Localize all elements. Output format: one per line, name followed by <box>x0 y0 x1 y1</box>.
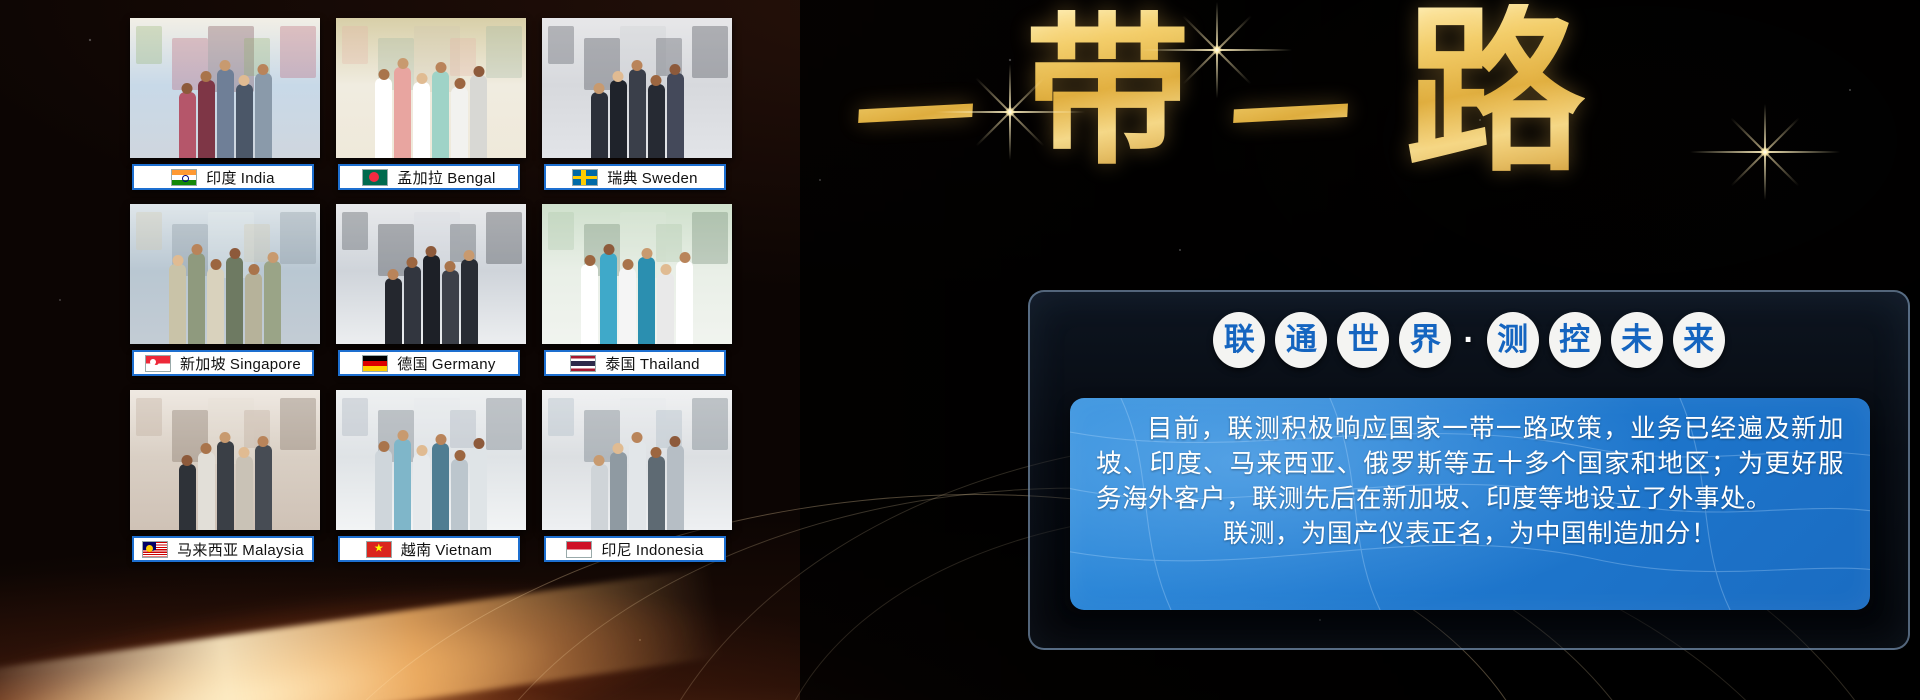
slogan-char: 控 <box>1549 312 1601 368</box>
country-photo[interactable] <box>130 390 320 530</box>
vietnam-flag-icon <box>366 541 392 558</box>
country-name-en: Singapore <box>230 356 301 373</box>
calligraphy-char-4: 路 <box>1405 4 1585 184</box>
country-name-cn: 越南 <box>401 542 432 559</box>
country-name-cn: 印度 <box>206 170 237 187</box>
slogan-separator: · <box>1463 323 1474 357</box>
description-box: 目前，联测积极响应国家一带一路政策，业务已经遍及新加坡、印度、马来西亚、俄罗斯等… <box>1070 398 1870 610</box>
country-name: 德国Germany <box>397 353 495 374</box>
country-label: 印度India <box>132 164 314 190</box>
country-name-en: Germany <box>432 356 496 373</box>
country-name: 越南Vietnam <box>401 539 492 560</box>
malaysia-flag-icon <box>142 541 168 558</box>
calligraphy-char-3: 一 <box>1227 57 1354 183</box>
country-name-en: Thailand <box>640 356 700 373</box>
country-label: 越南Vietnam <box>338 536 520 562</box>
country-label: 瑞典Sweden <box>544 164 726 190</box>
country-label: 印尼Indonesia <box>544 536 726 562</box>
singapore-flag-icon <box>145 355 171 372</box>
country-name: 瑞典Sweden <box>607 167 698 188</box>
country-name-en: Sweden <box>642 170 698 187</box>
bangladesh-flag-icon <box>362 169 388 186</box>
country-name-en: Bengal <box>447 170 496 187</box>
country-name: 印度India <box>206 167 275 188</box>
country-photo[interactable] <box>130 18 320 158</box>
country-name-en: Malaysia <box>242 542 304 559</box>
country-photo[interactable] <box>336 390 526 530</box>
country-card[interactable]: 印尼Indonesia <box>542 390 732 574</box>
india-flag-icon <box>171 169 197 186</box>
country-photo[interactable] <box>542 204 732 344</box>
country-photo[interactable] <box>336 204 526 344</box>
country-label: 马来西亚Malaysia <box>132 536 314 562</box>
country-photo-gallery: 印度India孟加拉Bengal瑞典Sweden新加坡Singapore德国Ge… <box>130 18 752 583</box>
slogan-row: 联 通 世 界 · 测 控 未 来 <box>1030 312 1908 368</box>
description-paragraph-2: 联测，为国产仪表正名，为中国制造加分！ <box>1096 517 1844 552</box>
slogan-char: 通 <box>1275 312 1327 368</box>
country-name: 新加坡Singapore <box>180 353 301 374</box>
slogan-char: 未 <box>1611 312 1663 368</box>
sweden-flag-icon <box>572 169 598 186</box>
country-name-en: Indonesia <box>636 542 704 559</box>
country-card[interactable]: 新加坡Singapore <box>130 204 320 388</box>
country-card[interactable]: 孟加拉Bengal <box>336 18 526 202</box>
slogan-char: 界 <box>1399 312 1451 368</box>
country-name: 马来西亚Malaysia <box>177 539 304 560</box>
country-name-cn: 马来西亚 <box>177 542 238 559</box>
country-card[interactable]: 瑞典Sweden <box>542 18 732 202</box>
calligraphy-char-1: 一 <box>852 57 979 183</box>
slogan-char: 世 <box>1337 312 1389 368</box>
slogan-char: 联 <box>1213 312 1265 368</box>
description-paragraph-1: 目前，联测积极响应国家一带一路政策，业务已经遍及新加坡、印度、马来西亚、俄罗斯等… <box>1096 412 1844 517</box>
country-card[interactable]: 印度India <box>130 18 320 202</box>
country-name-cn: 孟加拉 <box>397 170 443 187</box>
belt-and-road-calligraphy: 一 带 一 路 <box>845 4 1905 189</box>
slogan-char: 测 <box>1487 312 1539 368</box>
thailand-flag-icon <box>570 355 596 372</box>
banner-stage: 印度India孟加拉Bengal瑞典Sweden新加坡Singapore德国Ge… <box>0 0 1920 700</box>
country-card[interactable]: 马来西亚Malaysia <box>130 390 320 574</box>
country-name-en: Vietnam <box>435 542 492 559</box>
country-photo[interactable] <box>542 390 732 530</box>
slogan-char: 来 <box>1673 312 1725 368</box>
country-name-en: India <box>241 170 275 187</box>
country-name: 泰国Thailand <box>605 353 700 374</box>
country-card[interactable]: 德国Germany <box>336 204 526 388</box>
calligraphy-char-2: 带 <box>1025 10 1190 175</box>
country-label: 泰国Thailand <box>544 350 726 376</box>
country-name-cn: 泰国 <box>605 356 636 373</box>
country-label: 德国Germany <box>338 350 520 376</box>
country-label: 孟加拉Bengal <box>338 164 520 190</box>
country-card[interactable]: 泰国Thailand <box>542 204 732 388</box>
info-panel: 联 通 世 界 · 测 控 未 来 目前，联测积极响应国家一带一路政策，业 <box>1028 290 1910 650</box>
country-name-cn: 新加坡 <box>180 356 226 373</box>
country-photo[interactable] <box>542 18 732 158</box>
country-name: 印尼Indonesia <box>601 539 703 560</box>
country-name-cn: 瑞典 <box>607 170 638 187</box>
country-label: 新加坡Singapore <box>132 350 314 376</box>
germany-flag-icon <box>362 355 388 372</box>
indonesia-flag-icon <box>566 541 592 558</box>
country-name: 孟加拉Bengal <box>397 167 495 188</box>
country-photo[interactable] <box>130 204 320 344</box>
country-photo[interactable] <box>336 18 526 158</box>
country-name-cn: 德国 <box>397 356 428 373</box>
country-card[interactable]: 越南Vietnam <box>336 390 526 574</box>
country-name-cn: 印尼 <box>601 542 632 559</box>
